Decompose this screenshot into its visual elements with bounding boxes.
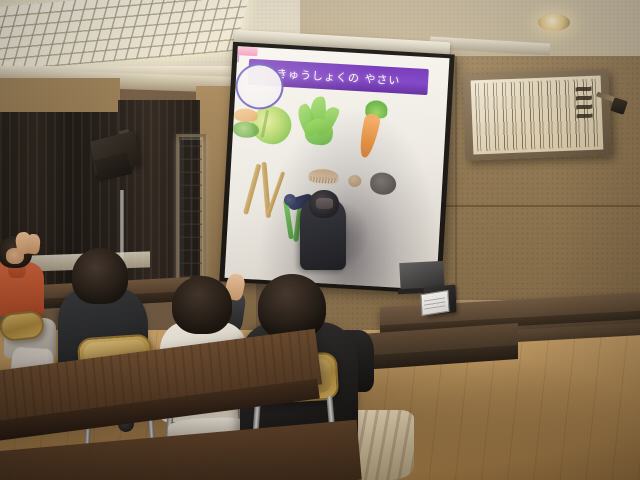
photo-scene: きゅうしょくの やさい bbox=[0, 0, 640, 480]
presenter-face bbox=[316, 198, 333, 209]
glass-block-window bbox=[180, 140, 202, 290]
audience-dark-jacket-head bbox=[72, 248, 128, 304]
frame-glass-reflection bbox=[471, 76, 604, 155]
raised-hand bbox=[25, 233, 41, 254]
audience-black-sweater-head bbox=[258, 274, 326, 340]
audience-white-top-head bbox=[172, 276, 232, 334]
downlight-icon bbox=[538, 14, 570, 31]
